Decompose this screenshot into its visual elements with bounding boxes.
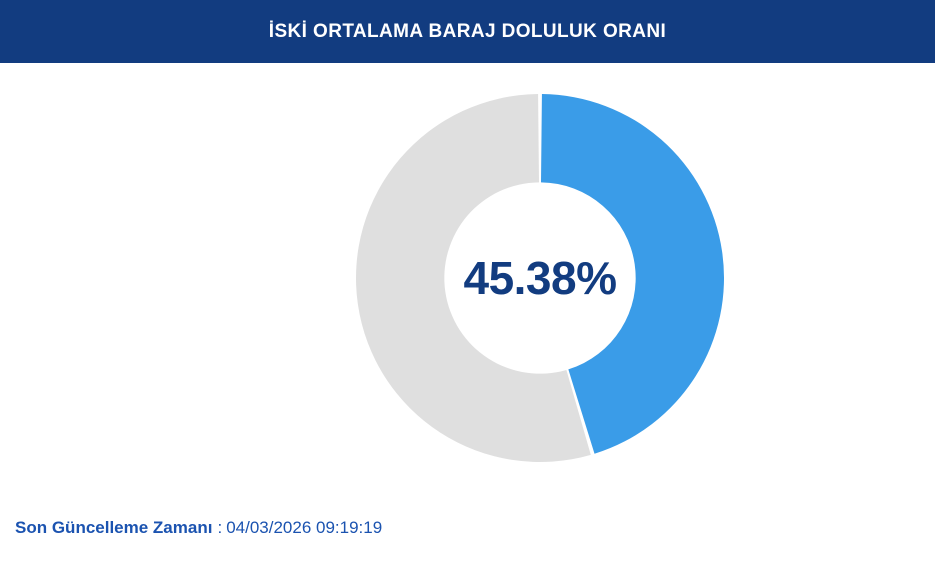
dam-occupancy-widget: İSKİ ORTALAMA BARAJ DOLULUK ORANI 45.38%…	[0, 0, 935, 562]
donut-chart: 45.38%	[356, 93, 724, 463]
last-update-separator: :	[212, 518, 226, 538]
header-bar: İSKİ ORTALAMA BARAJ DOLULUK ORANI	[0, 0, 935, 63]
donut-segments	[356, 94, 724, 462]
chart-area: 45.38%	[0, 63, 935, 495]
last-update-label: Son Güncelleme Zamanı	[15, 518, 212, 538]
last-update-value: 04/03/2026 09:19:19	[226, 518, 382, 538]
donut-chart-svg	[356, 93, 724, 463]
last-update-footer: Son Güncelleme Zamanı : 04/03/2026 09:19…	[15, 518, 382, 538]
page-title: İSKİ ORTALAMA BARAJ DOLULUK ORANI	[269, 21, 666, 43]
